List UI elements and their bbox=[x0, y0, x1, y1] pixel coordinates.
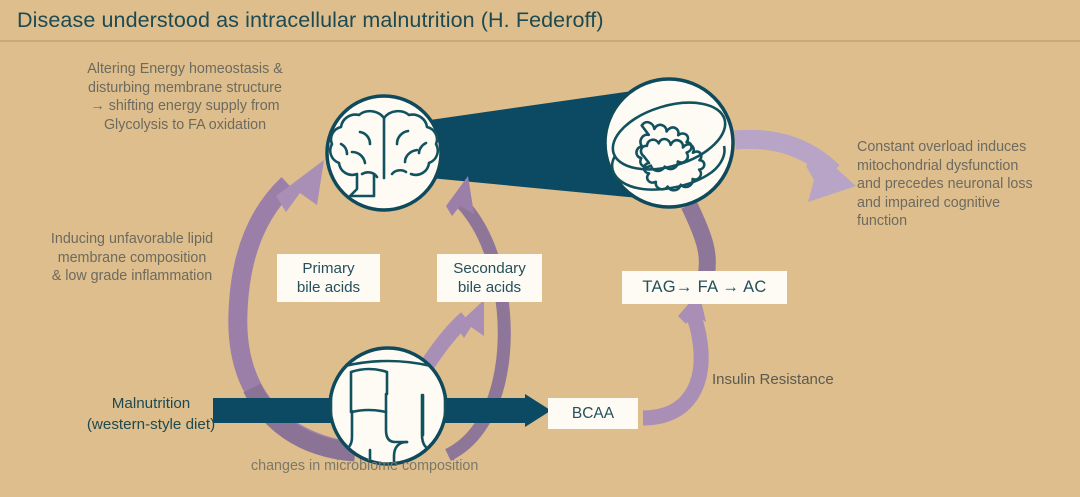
annotation-top-left-line-1: Altering Energy homeostasis & bbox=[45, 60, 325, 79]
arrow-bcaa-to-tag bbox=[643, 292, 706, 418]
annotation-malnutrition: Malnutrition (western-style diet) bbox=[56, 394, 246, 435]
annotation-malnutrition-line-1: Malnutrition bbox=[56, 394, 246, 415]
label-secondary-bile-acids[interactable]: Secondary bile acids bbox=[437, 254, 542, 302]
annotation-top-left: Altering Energy homeostasis & disturbing… bbox=[45, 60, 325, 134]
label-primary-line-1: Primary bbox=[297, 259, 360, 278]
diagram-canvas: Disease understood as intracellular maln… bbox=[0, 0, 1080, 497]
annotation-right-line-2: mitochondrial dysfunction bbox=[857, 157, 1072, 176]
annotation-microbiome: changes in microbiome composition bbox=[251, 457, 478, 476]
label-primary-bile-acids[interactable]: Primary bile acids bbox=[277, 254, 380, 302]
annotation-top-left-line-4: Glycolysis to FA oxidation bbox=[45, 116, 325, 135]
annotation-mid-left-line-3: & low grade inflammation bbox=[22, 267, 242, 286]
label-primary-line-2: bile acids bbox=[297, 278, 360, 297]
annotation-right-line-5: function bbox=[857, 212, 1072, 231]
annotation-malnutrition-line-2: (western-style diet) bbox=[56, 415, 246, 436]
label-secondary-line-2: bile acids bbox=[453, 278, 526, 297]
annotation-mid-left: Inducing unfavorable lipid membrane comp… bbox=[22, 230, 242, 286]
annotation-right-line-4: and impaired cognitive bbox=[857, 194, 1072, 213]
annotation-right-line-3: and precedes neuronal loss bbox=[857, 175, 1072, 194]
annotation-top-left-line-2: disturbing membrane structure bbox=[45, 79, 325, 98]
arrow-secondary-bile-acids bbox=[424, 300, 484, 370]
annotation-right-line-1: Constant overload induces bbox=[857, 138, 1072, 157]
annotation-top-left-line-3: → shifting energy supply from bbox=[45, 97, 325, 116]
node-mitochondrion[interactable] bbox=[605, 79, 733, 207]
annotation-mid-left-line-2: membrane composition bbox=[22, 249, 242, 268]
annotation-mid-left-line-1: Inducing unfavorable lipid bbox=[22, 230, 242, 249]
node-brain[interactable] bbox=[327, 96, 441, 210]
label-secondary-line-1: Secondary bbox=[453, 259, 526, 278]
label-bcaa[interactable]: BCAA bbox=[548, 398, 638, 429]
annotation-right: Constant overload induces mitochondrial … bbox=[857, 138, 1072, 231]
label-tag-fa-ac[interactable]: TAG→ FA → AC bbox=[622, 271, 787, 304]
annotation-insulin-resistance: Insulin Resistance bbox=[712, 370, 834, 390]
arrow-mitochondrion-to-note bbox=[735, 139, 856, 202]
